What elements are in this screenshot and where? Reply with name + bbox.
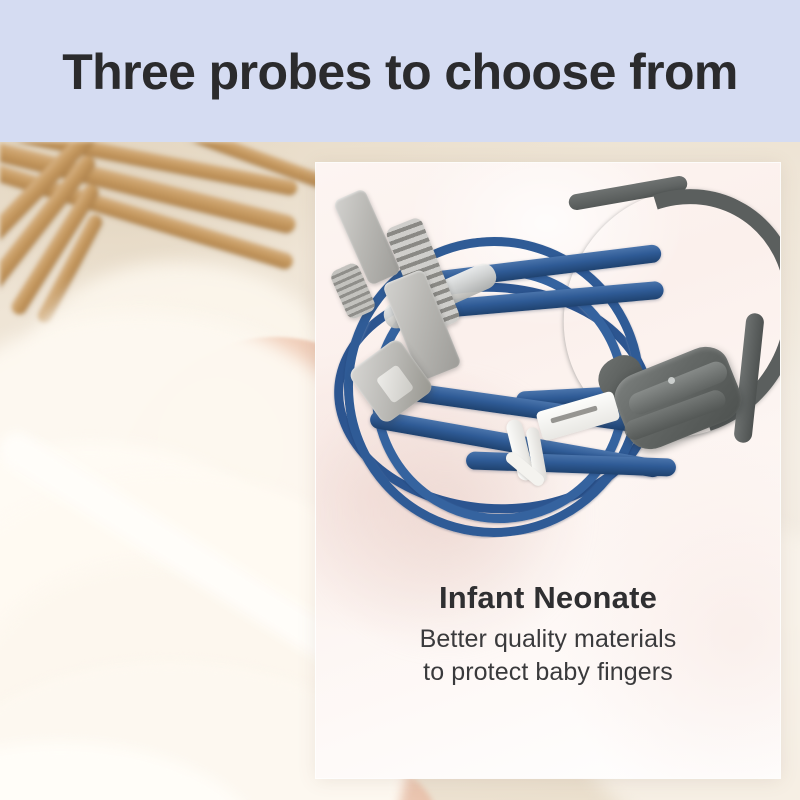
caption-title: Infant Neonate — [340, 581, 756, 615]
sensor-led-window — [668, 377, 675, 384]
product-caption: Infant Neonate Better quality materials … — [316, 581, 780, 689]
product-inset-panel: Infant Neonate Better quality materials … — [316, 163, 780, 778]
page-title: Three probes to choose from — [62, 47, 738, 97]
header-banner: Three probes to choose from — [0, 0, 800, 142]
caption-line-2: to protect baby fingers — [340, 656, 756, 689]
caption-line-1: Better quality materials — [340, 623, 756, 656]
product-infographic-page: Three probes to choose from — [0, 0, 800, 800]
